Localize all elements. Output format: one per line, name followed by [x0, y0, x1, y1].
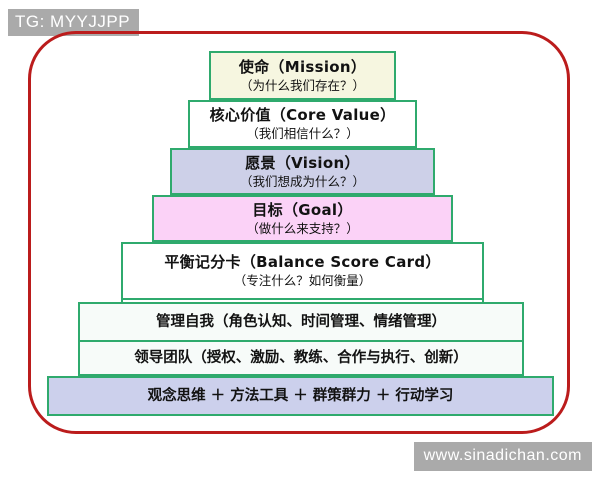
pyramid-tier-goal: 目标（Goal） （做什么来支持？）: [152, 195, 453, 242]
tier-mission-subtitle: （为什么我们存在？）: [240, 77, 365, 94]
tier-management-self-row: 管理自我（角色认知、时间管理、情绪管理）: [80, 304, 522, 340]
strategy-pyramid-diagram: 使命（Mission） （为什么我们存在？） 核心价值（Core Value） …: [0, 0, 600, 480]
tier-goal-title: 目标（Goal）: [252, 201, 352, 220]
pyramid-tier-management: 管理自我（角色认知、时间管理、情绪管理） 领导团队（授权、激励、教练、合作与执行…: [78, 302, 524, 376]
tier-mission-title: 使命（Mission）: [239, 58, 366, 77]
tier-core-value-subtitle: （我们相信什么？）: [246, 125, 359, 142]
tier-management-team-text: 领导团队（授权、激励、教练、合作与执行、创新）: [134, 348, 468, 368]
tier-bsc-headline-row: 平衡记分卡（Balance Score Card） （专注什么？如何衡量）: [123, 244, 482, 298]
tier-goal-subtitle: （做什么来支持？）: [246, 220, 359, 237]
tier-core-value-title: 核心价值（Core Value）: [210, 106, 396, 125]
watermark-tag-bottom-right: www.sinadichan.com: [414, 442, 592, 471]
tier-vision-title: 愿景（Vision）: [245, 154, 360, 173]
tier-management-self-text: 管理自我（角色认知、时间管理、情绪管理）: [156, 312, 446, 332]
pyramid-tier-vision: 愿景（Vision） （我们想成为什么？）: [170, 148, 435, 195]
tier-bsc-subtitle: （专注什么？如何衡量）: [234, 272, 372, 289]
tier-vision-subtitle: （我们想成为什么？）: [240, 173, 365, 190]
tier-foundation-text: 观念思维 ＋ 方法工具 ＋ 群策群力 ＋ 行动学习: [148, 386, 454, 406]
pyramid-tier-foundation: 观念思维 ＋ 方法工具 ＋ 群策群力 ＋ 行动学习: [47, 376, 554, 416]
tier-management-team-row: 领导团队（授权、激励、教练、合作与执行、创新）: [80, 340, 522, 374]
pyramid-tier-mission: 使命（Mission） （为什么我们存在？）: [209, 51, 396, 100]
pyramid-tier-core-value: 核心价值（Core Value） （我们相信什么？）: [188, 100, 417, 148]
tier-bsc-title: 平衡记分卡（Balance Score Card）: [164, 253, 440, 272]
